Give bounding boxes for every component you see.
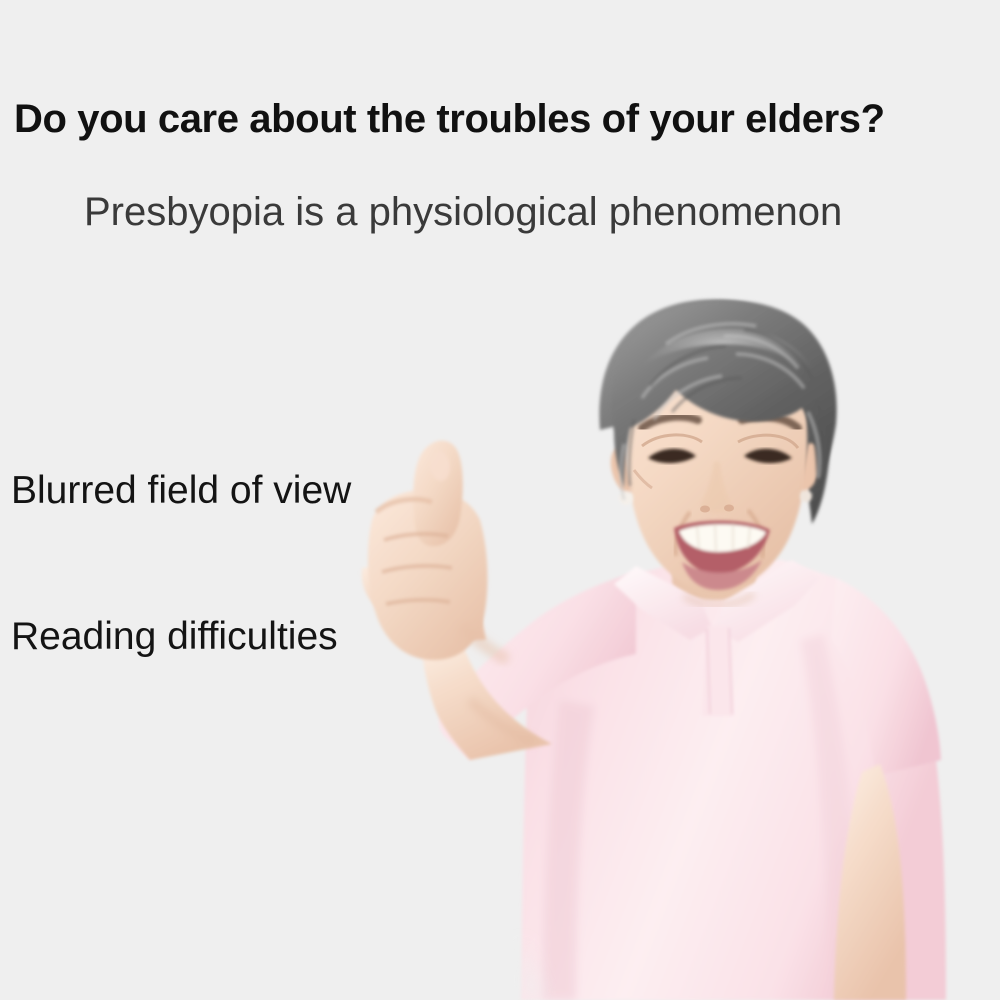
hair-back [599, 299, 830, 524]
ears [611, 443, 822, 505]
edge-softening [521, 940, 548, 1000]
earring-left [619, 491, 633, 505]
right-arm [834, 764, 906, 1000]
page-title: Do you care about the troubles of your e… [14, 96, 974, 142]
facial-features [634, 417, 798, 605]
hair-front [612, 300, 837, 500]
thumbs-up-hand [368, 440, 508, 660]
earring-right [800, 490, 812, 502]
symptom-blurred-field-of-view: Blurred field of view [11, 468, 351, 514]
symptom-reading-difficulties: Reading difficulties [11, 614, 338, 660]
raised-arm [362, 556, 552, 760]
page-subtitle: Presbyopia is a physiological phenomenon [84, 188, 964, 236]
smiling-mouth [674, 521, 770, 590]
neck [672, 496, 756, 600]
face [627, 340, 807, 592]
polo-shirt [439, 560, 946, 1000]
polo-collar [614, 560, 820, 716]
presbyopia-banner: Do you care about the troubles of your e… [0, 0, 1000, 1000]
